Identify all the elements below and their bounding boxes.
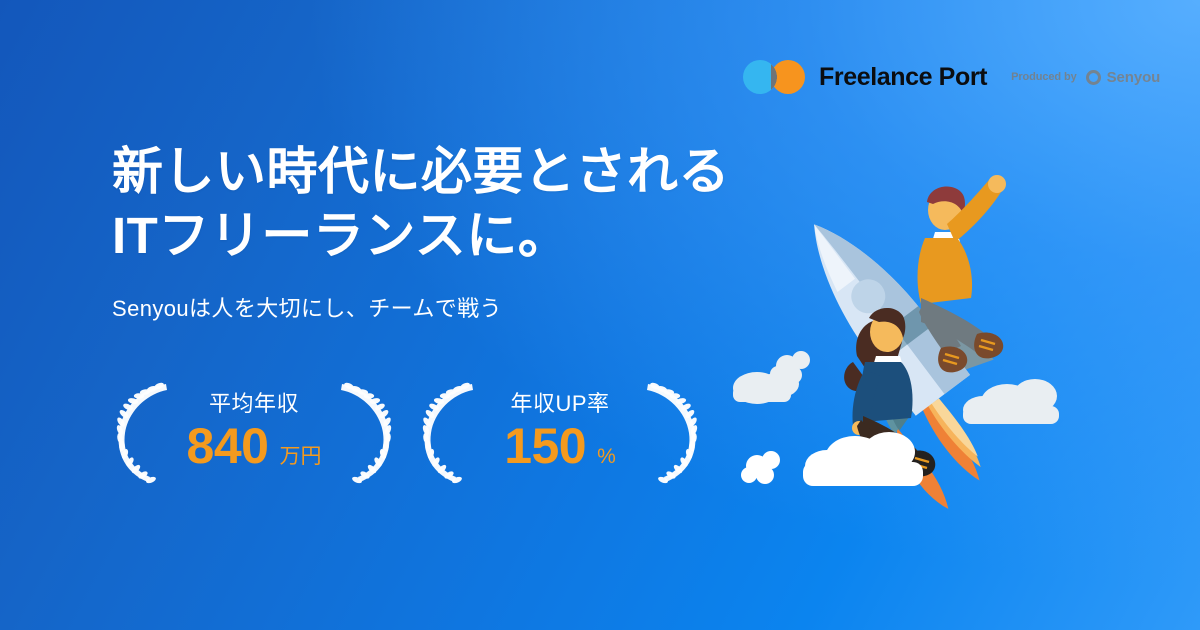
stat-card-average-income: 平均年収 840 万円 (108, 378, 400, 486)
brand-name: Freelance Port (819, 63, 987, 92)
cloud-large (803, 432, 923, 486)
subheadline: Senyouは人を大切にし、チームで戦う (112, 291, 502, 323)
stat-card-income-up-rate: 年収UP率 150 % (414, 378, 706, 486)
stat-unit: % (597, 445, 616, 469)
stat-unit: 万円 (279, 440, 321, 470)
logo-circle-overlap (771, 60, 777, 94)
page-title: 新しい時代に必要とされる ITフリーランスに。 (112, 140, 730, 268)
stat-value-row: 150 % (504, 421, 616, 471)
stat-label: 年収UP率 (510, 386, 609, 418)
laurel-wreath-icon (112, 378, 170, 486)
stat-content: 年収UP率 150 % (472, 378, 648, 486)
man-shoe-right (974, 332, 1003, 358)
cloud-puff-upper (770, 351, 810, 384)
man-torso (918, 238, 973, 304)
cloud-puff-lower (741, 451, 780, 484)
laurel-wreath-icon (338, 378, 396, 486)
two-overlapping-circles-logo (743, 60, 805, 94)
laurel-wreath-icon (644, 378, 702, 486)
stat-value: 840 (187, 421, 269, 471)
hero-banner: Freelance Port Produced by Senyou 新しい時代に… (0, 0, 1200, 630)
stats-row: 平均年収 840 万円 (108, 378, 706, 486)
senyou-ring-icon (1086, 70, 1101, 85)
stat-label: 平均年収 (209, 386, 299, 418)
cloud-medium (963, 379, 1059, 424)
laurel-wreath-icon (418, 378, 476, 486)
headline-line-1: 新しい時代に必要とされる (112, 143, 730, 200)
headline-line-2: ITフリーランスに。 (112, 204, 730, 268)
produced-by-label: Produced by (1011, 71, 1077, 83)
two-people-riding-rocket-illustration (735, 170, 1095, 500)
partner-name: Senyou (1107, 69, 1161, 86)
stat-value: 150 (504, 421, 586, 471)
produced-by-block: Produced by Senyou (1011, 69, 1160, 86)
stat-content: 平均年収 840 万円 (166, 378, 342, 486)
header-logo[interactable]: Freelance Port Produced by Senyou (743, 60, 1160, 94)
stat-value-row: 840 万円 (187, 421, 322, 471)
